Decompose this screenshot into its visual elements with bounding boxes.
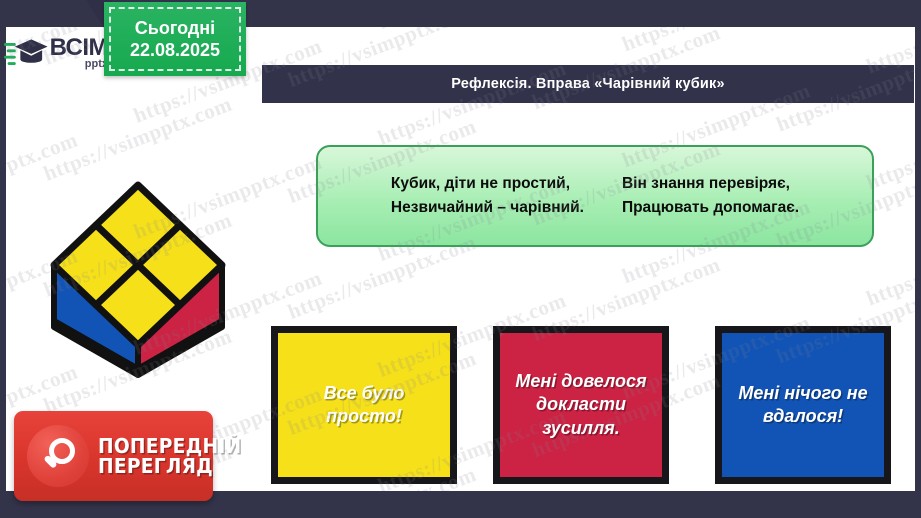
preview-icon-circle [27, 425, 89, 487]
preview-line-1: ПОПЕРЕДНІЙ [98, 436, 241, 456]
graduation-cap-icon [4, 33, 48, 73]
magnifier-icon [38, 436, 78, 476]
date-label: Сьогодні [135, 17, 215, 40]
answer-label: Мені нічого не вдалося! [722, 382, 884, 429]
date-badge: Сьогодні 22.08.2025 [104, 2, 246, 76]
answer-label: Мені довелося докласти зусилля. [500, 370, 662, 440]
answer-label: Все було просто! [278, 382, 450, 429]
verse-panel: Кубик, діти не простий, Незвичайний – ча… [316, 145, 874, 247]
verse-column-right: Він знання перевіряє, Працювать допомага… [622, 174, 799, 219]
logo-text: ВСІМ pptx [50, 36, 108, 70]
slide-header-bar: Рефлексія. Вправа «Чарівний кубик» [262, 65, 914, 103]
verse-line: Він знання перевіряє, [622, 174, 799, 195]
rubiks-cube-icon [42, 173, 234, 383]
answer-option-blue[interactable]: Мені нічого не вдалося! [715, 326, 891, 484]
preview-badge[interactable]: ПОПЕРЕДНІЙ ПЕРЕГЛЯД [14, 411, 213, 501]
preview-line-2: ПЕРЕГЛЯД [98, 456, 241, 476]
preview-badge-text: ПОПЕРЕДНІЙ ПЕРЕГЛЯД [98, 436, 252, 477]
date-value: 22.08.2025 [130, 39, 220, 62]
answer-option-yellow[interactable]: Все було просто! [271, 326, 457, 484]
verse-grid: Кубик, діти не простий, Незвичайний – ча… [373, 174, 817, 219]
verse-line: Незвичайний – чарівний. [391, 198, 584, 219]
verse-line: Працювать допомагає. [622, 198, 799, 219]
answer-option-red[interactable]: Мені довелося докласти зусилля. [493, 326, 669, 484]
verse-column-left: Кубик, діти не простий, Незвичайний – ча… [391, 174, 584, 219]
slide-viewer: Рефлексія. Вправа «Чарівний кубик» Кубик… [0, 0, 921, 518]
verse-line: Кубик, діти не простий, [391, 174, 584, 195]
page-title: Рефлексія. Вправа «Чарівний кубик» [451, 76, 724, 92]
